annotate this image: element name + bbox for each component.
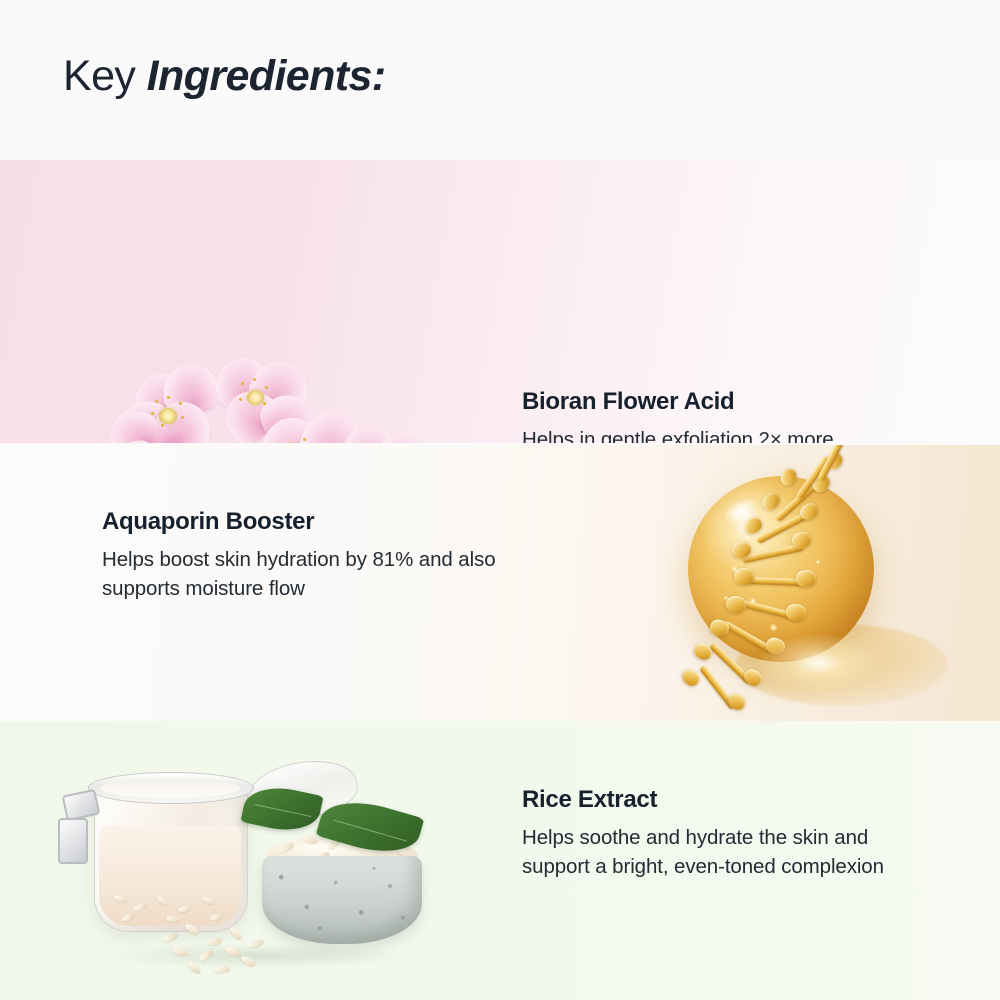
grain [161, 931, 178, 943]
rice-jar-bowl-image [52, 748, 472, 984]
sparkle [744, 534, 751, 541]
sparkle [770, 624, 777, 631]
page-title: Key Ingredients: [63, 50, 386, 102]
ingredient-band-bioran-flower-acid: Bioran Flower Acid Helps in gentle exfol… [0, 160, 1000, 443]
ingredient-description: Helps soothe and hydrate the skin and su… [522, 823, 922, 881]
jar-cream-contents [99, 826, 241, 926]
key-ingredients-poster: Key Ingredients: [0, 0, 1000, 1000]
jar-rim-inner [100, 779, 240, 798]
page-title-italic: Ingredients: [147, 52, 386, 100]
ingredient-band-rice-extract: Rice Extract Helps soothe and hydrate th… [0, 721, 1000, 1000]
ingredient-text-bioran-flower-acid: Bioran Flower Acid Helps in gentle exfol… [522, 388, 922, 443]
page-title-regular: Key [63, 52, 147, 100]
ingredient-text-aquaporin-booster: Aquaporin Booster Helps boost skin hydra… [102, 508, 502, 603]
stone-bowl [262, 856, 422, 944]
jar-clasp-lower [58, 818, 88, 864]
gold-bottom-flare [758, 634, 878, 692]
grain [228, 925, 244, 941]
cherry-blossom-cluster-image [55, 356, 465, 443]
ingredient-title: Rice Extract [522, 786, 922, 814]
ingredient-description: Helps boost skin hydration by 81% and al… [102, 545, 502, 603]
golden-dna-sphere-image [620, 448, 970, 720]
sparkle [816, 560, 820, 564]
header: Key Ingredients: [0, 0, 1000, 160]
ingredient-description: Helps in gentle exfoliation 2× more effe… [522, 425, 922, 443]
ingredient-title: Bioran Flower Acid [522, 388, 922, 416]
ingredient-title: Aquaporin Booster [102, 508, 502, 536]
rice-shadow [108, 944, 408, 968]
grain [214, 965, 230, 973]
ingredient-text-rice-extract: Rice Extract Helps soothe and hydrate th… [522, 786, 922, 881]
ingredient-band-aquaporin-booster: Aquaporin Booster Helps boost skin hydra… [0, 445, 1000, 721]
